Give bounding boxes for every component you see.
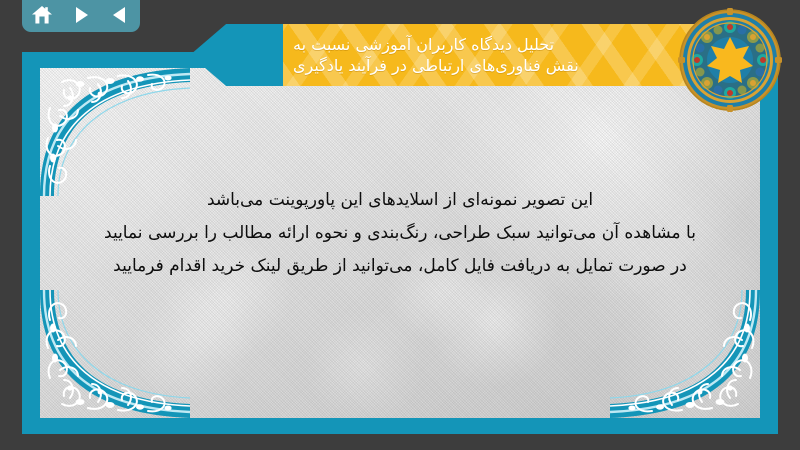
body-line-2: با مشاهده آن می‌توانید سبک طراحی، رنگ‌بن… — [62, 217, 738, 250]
page-title-line-2: نقش فناوری‌های ارتباطی در فرآیند یادگیری — [293, 55, 579, 76]
home-button[interactable] — [28, 3, 56, 27]
forward-button[interactable] — [67, 3, 95, 27]
slide-canvas: این تصویر نمونه‌ای از اسلایدهای این پاور… — [0, 0, 800, 450]
navigation-toolbar — [22, 0, 140, 32]
title-banner: تحلیل دیدگاه کاربران آموزشی نسبت به نقش … — [190, 24, 750, 86]
body-line-1: این تصویر نمونه‌ای از اسلایدهای این پاور… — [62, 184, 738, 217]
home-icon — [31, 5, 53, 25]
triangle-right-icon — [71, 5, 91, 25]
body-line-3: در صورت تمایل به دریافت فایل کامل، می‌تو… — [62, 250, 738, 283]
circular-medallion-ornament — [678, 8, 782, 112]
back-button[interactable] — [106, 3, 134, 27]
slide-frame: این تصویر نمونه‌ای از اسلایدهای این پاور… — [22, 52, 778, 434]
triangle-left-icon — [110, 5, 130, 25]
slide-body-text: این تصویر نمونه‌ای از اسلایدهای این پاور… — [62, 184, 738, 283]
page-title-line-1: تحلیل دیدگاه کاربران آموزشی نسبت به — [293, 34, 554, 55]
title-arrow-shape — [190, 24, 285, 86]
